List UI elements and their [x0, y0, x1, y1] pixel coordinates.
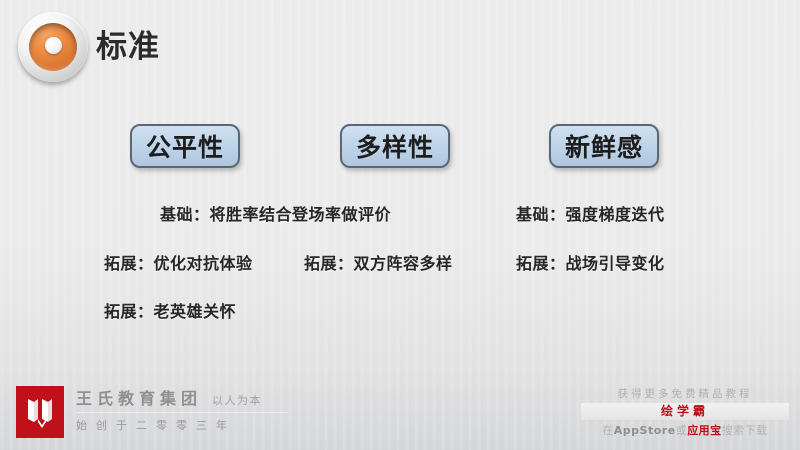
promo-appstore: AppStore	[614, 424, 676, 437]
orange-disc-icon	[18, 12, 88, 82]
brand-established: 始创于二零零三年	[76, 417, 236, 435]
slide-header: 标准	[0, 0, 800, 92]
page-title: 标准	[96, 25, 160, 69]
text-fairness-base: 基础：将胜率结合登场率做评价	[160, 201, 391, 225]
brand-divider	[76, 412, 288, 413]
promo-suffix: 搜索下载	[722, 424, 768, 437]
wangshi-w-logo-icon	[16, 386, 64, 438]
promo-prefix: 在	[602, 424, 614, 437]
promo-instruction: 在AppStore或应用宝搜索下载	[578, 422, 792, 439]
promo-alt-store: 应用宝	[687, 424, 722, 437]
brand-name: 王氏教育集团	[76, 388, 202, 410]
text-fairness-ext-2: 拓展：老英雄关怀	[104, 298, 236, 322]
category-pill-fairness: 公平性	[130, 124, 240, 168]
slide-canvas: 标准 公平性 多样性 新鲜感 基础：将胜率结合登场率做评价 基础：强度梯度迭代 …	[0, 0, 800, 450]
text-freshness-ext-1: 拓展：战场引导变化	[516, 250, 665, 274]
text-diversity-ext-1: 拓展：双方阵容多样	[304, 250, 453, 274]
text-fairness-ext-1: 拓展：优化对抗体验	[104, 250, 253, 274]
promo-app-badge: 绘学霸	[581, 403, 789, 420]
footer-promo: 获得更多免费精品教程 绘学霸 在AppStore或应用宝搜索下载	[578, 386, 792, 442]
promo-or: 或	[676, 424, 688, 437]
brand-slogan: 以人为本	[212, 392, 262, 410]
text-freshness-base: 基础：强度梯度迭代	[516, 201, 665, 225]
category-pill-freshness: 新鲜感	[549, 124, 659, 168]
footer-brand: 王氏教育集团 以人为本 始创于二零零三年	[16, 386, 316, 442]
promo-headline: 获得更多免费精品教程	[578, 386, 792, 402]
category-pill-diversity: 多样性	[340, 124, 450, 168]
promo-app-name: 绘学霸	[661, 403, 709, 420]
orange-disc-center-dot	[45, 37, 62, 54]
